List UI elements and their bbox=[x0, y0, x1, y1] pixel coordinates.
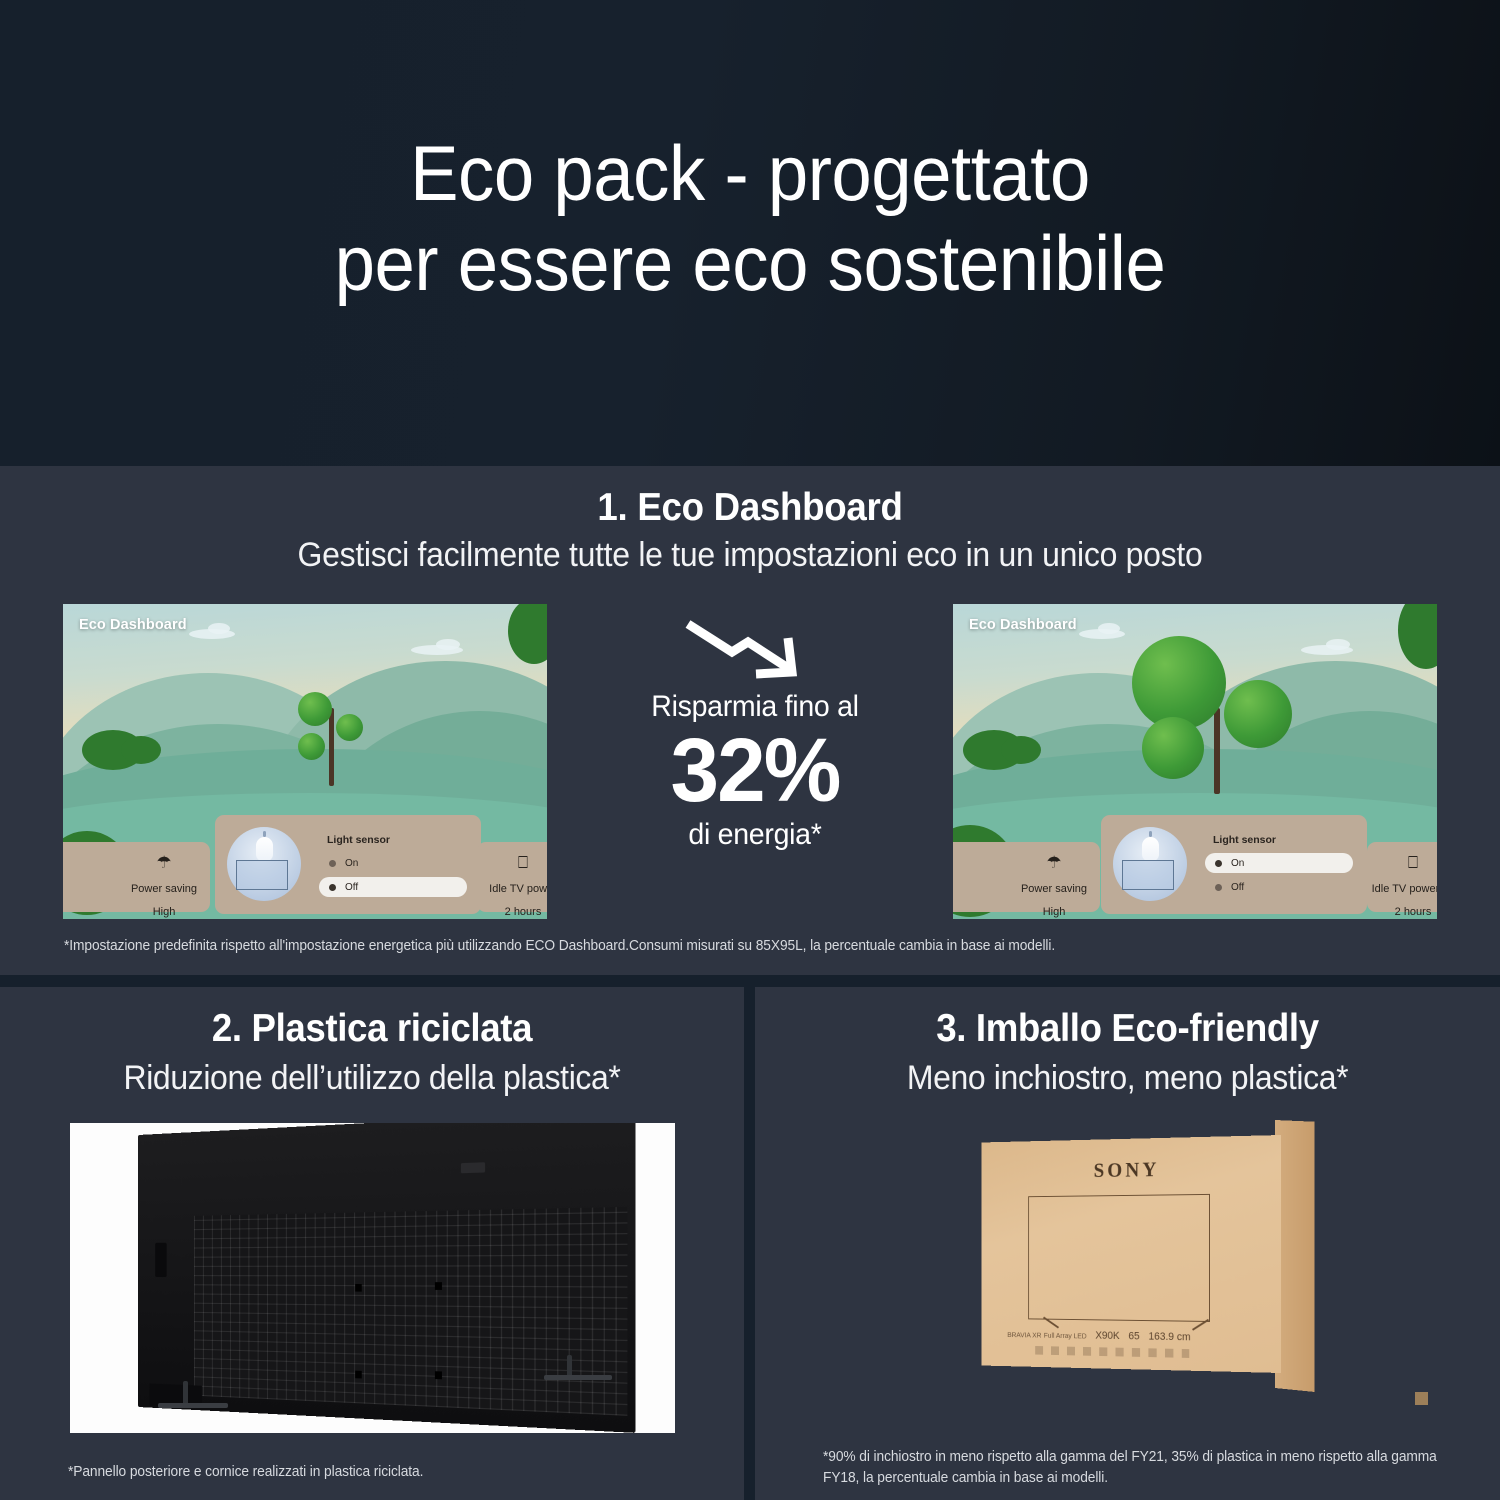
tv-rear-logo-icon bbox=[461, 1162, 485, 1173]
box-spec-size-metric: 163.9 cm bbox=[1149, 1331, 1191, 1343]
setting-card-power-saving[interactable]: ☂ Power saving High bbox=[1008, 842, 1100, 912]
mini-tv-icon bbox=[1122, 860, 1174, 890]
section3-footnote: *90% di inchiostro in meno rispetto alla… bbox=[823, 1447, 1450, 1491]
light-sensor-option-off[interactable]: Off bbox=[319, 877, 467, 897]
tv-off-icon: ⎕ bbox=[477, 854, 547, 871]
box-corner-mark-icon bbox=[1415, 1392, 1428, 1405]
horizontal-divider bbox=[0, 975, 1500, 987]
hero-title-line-2: per essere eco sostenibile bbox=[53, 218, 1448, 308]
tree-leaf-icon bbox=[1142, 717, 1204, 779]
tv-stand-post bbox=[567, 1355, 572, 1377]
section3-subheading: Meno inchiostro, meno plastica* bbox=[777, 1059, 1477, 1098]
tv-mount-point-icon bbox=[355, 1371, 362, 1379]
light-bulb-illustration bbox=[1113, 827, 1187, 901]
section2-heading: 2. Plastica riciclata bbox=[22, 1007, 721, 1051]
radio-icon bbox=[1215, 884, 1222, 891]
tv-rear-photo bbox=[70, 1123, 675, 1433]
tv-chassis bbox=[138, 1123, 635, 1433]
option-off-label: Off bbox=[1231, 882, 1244, 893]
box-spec-bravia: BRAVIA XR bbox=[1007, 1330, 1041, 1339]
light-sensor-option-off[interactable]: Off bbox=[1205, 877, 1353, 897]
tv-port-icon bbox=[155, 1243, 167, 1277]
cloud-icon bbox=[436, 639, 460, 650]
light-bulb-illustration bbox=[227, 827, 301, 901]
tv-screenshot-before: Eco Dashboard ☂ Power saving High Light … bbox=[63, 604, 547, 919]
light-sensor-label: Light sensor bbox=[1213, 834, 1276, 846]
light-sensor-option-on[interactable]: On bbox=[319, 853, 467, 873]
stat-value: 32% bbox=[580, 726, 929, 816]
downward-arrow-icon bbox=[680, 616, 830, 686]
section-eco-dashboard: 1. Eco Dashboard Gestisci facilmente tut… bbox=[0, 466, 1500, 975]
page-title: Eco pack - progettato per essere eco sos… bbox=[53, 128, 1448, 309]
tree-trunk-icon bbox=[1214, 708, 1220, 794]
idle-tv-power-label: Idle TV power bbox=[477, 883, 547, 895]
vertical-divider bbox=[744, 987, 755, 1500]
option-off-label: Off bbox=[345, 882, 358, 893]
eco-pack-infographic: Eco pack - progettato per essere eco sos… bbox=[0, 0, 1500, 1500]
box-feature-icons-row bbox=[1035, 1346, 1189, 1358]
stat-tail-text: di energia* bbox=[584, 818, 926, 852]
option-on-label: On bbox=[1231, 858, 1244, 869]
tv-screenshot-after: Eco Dashboard ☂ Power saving High Light … bbox=[953, 604, 1437, 919]
tree-trunk-icon bbox=[329, 708, 334, 786]
tv-stand-post bbox=[183, 1381, 188, 1405]
option-on-label: On bbox=[345, 858, 358, 869]
section2-subheading: Riduzione dell’utilizzo della plastica* bbox=[22, 1059, 721, 1098]
box-spec-line: BRAVIA XR Full Array LED X90K 65 163.9 c… bbox=[1007, 1328, 1273, 1344]
power-saving-label: Power saving bbox=[1008, 883, 1100, 895]
tv-mount-point-icon bbox=[435, 1371, 442, 1379]
section-recycled-plastic: 2. Plastica riciclata Riduzione dell’uti… bbox=[0, 987, 744, 1500]
tv-rear-grid-texture bbox=[194, 1207, 627, 1416]
tv-stand-foot bbox=[158, 1403, 228, 1408]
setting-card-power-saving[interactable]: ☂ Power saving High bbox=[118, 842, 210, 912]
box-spec-size: 65 bbox=[1128, 1330, 1139, 1342]
hero-banner: Eco pack - progettato per essere eco sos… bbox=[0, 0, 1500, 466]
energy-saving-stat: Risparmia fino al 32% di energia* bbox=[575, 616, 935, 852]
tree-leaf-icon bbox=[1132, 636, 1226, 730]
power-saving-value: High bbox=[118, 906, 210, 918]
cloud-icon bbox=[208, 623, 230, 634]
section1-heading: 1. Eco Dashboard bbox=[45, 486, 1455, 530]
cloud-icon bbox=[1098, 623, 1120, 634]
leaf-power-icon: ☂ bbox=[1008, 854, 1100, 871]
section3-heading: 3. Imballo Eco-friendly bbox=[777, 1007, 1477, 1051]
sony-logo: SONY bbox=[981, 1155, 1281, 1185]
eco-dashboard-badge: Eco Dashboard bbox=[969, 617, 1077, 633]
idle-tv-power-value: 2 hours bbox=[1367, 906, 1437, 918]
stat-lead-text: Risparmia fino al bbox=[584, 690, 926, 724]
power-saving-value: High bbox=[1008, 906, 1100, 918]
setting-card-light-sensor[interactable]: Light sensor On Off bbox=[215, 815, 481, 914]
setting-card-idle-tv-power[interactable]: ⎕ Idle TV power 2 hours bbox=[477, 842, 547, 912]
tree-leaf-icon bbox=[298, 733, 325, 760]
section2-footnote: *Pannello posteriore e cornice realizzat… bbox=[68, 1464, 676, 1480]
leaf-power-icon: ☂ bbox=[118, 854, 210, 871]
section1-footnote: *Impostazione predefinita rispetto all'i… bbox=[64, 938, 1375, 954]
power-saving-label: Power saving bbox=[118, 883, 210, 895]
tree-leaf-icon bbox=[298, 692, 332, 726]
bulb-icon bbox=[256, 837, 273, 861]
bulb-icon bbox=[1142, 837, 1159, 861]
tv-box-photo: SONY BRAVIA XR Full Array LED X90K 65 16… bbox=[775, 1117, 1480, 1417]
light-sensor-label: Light sensor bbox=[327, 834, 390, 846]
setting-card-light-sensor[interactable]: Light sensor On Off bbox=[1101, 815, 1367, 914]
radio-icon bbox=[329, 884, 336, 891]
radio-icon bbox=[1215, 860, 1222, 867]
radio-icon bbox=[329, 860, 336, 867]
setting-card-idle-tv-power[interactable]: ⎕ Idle TV power off 2 hours bbox=[1367, 842, 1437, 912]
hero-title-line-1: Eco pack - progettato bbox=[410, 129, 1090, 217]
section-eco-packaging: 3. Imballo Eco-friendly Meno inchiostro,… bbox=[755, 987, 1500, 1500]
box-spec-model: X90K bbox=[1095, 1330, 1119, 1342]
tree-leaf-icon bbox=[1224, 680, 1292, 748]
idle-tv-power-value: 2 hours bbox=[477, 906, 547, 918]
cloud-icon bbox=[1326, 639, 1350, 650]
box-tv-outline-icon bbox=[1028, 1194, 1210, 1322]
box-front-panel: SONY BRAVIA XR Full Array LED X90K 65 16… bbox=[981, 1135, 1281, 1373]
light-sensor-option-on[interactable]: On bbox=[1205, 853, 1353, 873]
tv-stand-foot bbox=[544, 1375, 612, 1380]
tv-mount-point-icon bbox=[355, 1284, 362, 1292]
box-spec-backlight: Full Array LED bbox=[1044, 1331, 1087, 1340]
section1-subheading: Gestisci facilmente tutte le tue imposta… bbox=[45, 536, 1455, 575]
mini-tv-icon bbox=[236, 860, 288, 890]
tv-off-icon: ⎕ bbox=[1367, 854, 1437, 871]
idle-tv-power-label: Idle TV power off bbox=[1367, 883, 1437, 895]
tv-mount-point-icon bbox=[435, 1282, 442, 1290]
eco-dashboard-badge: Eco Dashboard bbox=[79, 617, 187, 633]
